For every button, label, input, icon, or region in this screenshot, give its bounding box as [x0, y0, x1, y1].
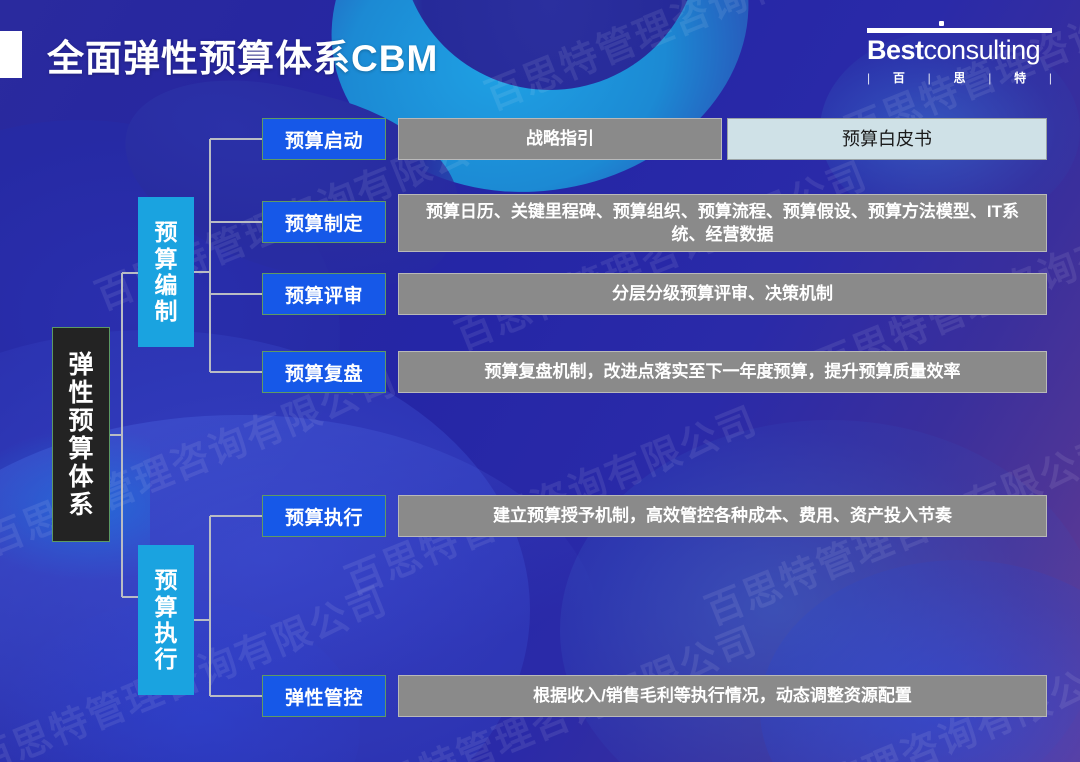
content-node-budget-whitepaper[interactable]: 预算白皮书 [727, 118, 1047, 160]
root-char: 体 [68, 463, 93, 491]
content-node-dynamic-resource-allocation[interactable]: 根据收入/销售毛利等执行情况，动态调整资源配置 [398, 675, 1047, 717]
root-char: 弹 [68, 351, 93, 379]
root-char: 算 [68, 435, 93, 463]
group-char: 制 [155, 298, 178, 324]
group-char: 预 [155, 219, 178, 245]
group-node-label: 预 算 编 制 [155, 219, 178, 325]
stage-node-flexible-control[interactable]: 弹性管控 [262, 675, 386, 717]
content-node-tiered-review-mechanism[interactable]: 分层分级预算评审、决策机制 [398, 273, 1047, 315]
group-char: 算 [155, 594, 178, 620]
content-node-strategy-guidance[interactable]: 战略指引 [398, 118, 722, 160]
root-char: 系 [68, 491, 93, 519]
group-char: 执 [155, 620, 178, 646]
slide-canvas: 百思特管理咨询有限公司 百思特管理咨询有限公司 百思特管理咨询有限公司 百思特管… [0, 0, 1080, 762]
stage-node-budget-execution[interactable]: 预算执行 [262, 495, 386, 537]
stage-node-budget-review[interactable]: 预算评审 [262, 273, 386, 315]
root-node-label: 弹 性 预 算 体 系 [68, 351, 93, 519]
group-char: 行 [155, 646, 178, 672]
stage-node-budget-formulation[interactable]: 预算制定 [262, 201, 386, 243]
group-node-budget-execution[interactable]: 预 算 执 行 [138, 545, 194, 695]
content-node-budget-formulation-details[interactable]: 预算日历、关键里程碑、预算组织、预算流程、预算假设、预算方法模型、IT系统、经营… [398, 194, 1047, 252]
diagram-nodes: 弹 性 预 算 体 系 预 算 编 制 预 算 执 行 [0, 0, 1080, 762]
stage-node-budget-kickoff[interactable]: 预算启动 [262, 118, 386, 160]
group-char: 算 [155, 246, 178, 272]
content-node-authorization-mechanism[interactable]: 建立预算授予机制，高效管控各种成本、费用、资产投入节奏 [398, 495, 1047, 537]
content-node-retrospective-mechanism[interactable]: 预算复盘机制，改进点落实至下一年度预算，提升预算质量效率 [398, 351, 1047, 393]
group-char: 预 [155, 567, 178, 593]
group-char: 编 [155, 272, 178, 298]
group-node-label: 预 算 执 行 [155, 567, 178, 673]
group-node-budget-preparation[interactable]: 预 算 编 制 [138, 197, 194, 347]
root-char: 性 [68, 379, 93, 407]
root-node-elastic-budget-system[interactable]: 弹 性 预 算 体 系 [52, 327, 110, 542]
stage-node-budget-retrospective[interactable]: 预算复盘 [262, 351, 386, 393]
root-char: 预 [68, 407, 93, 435]
